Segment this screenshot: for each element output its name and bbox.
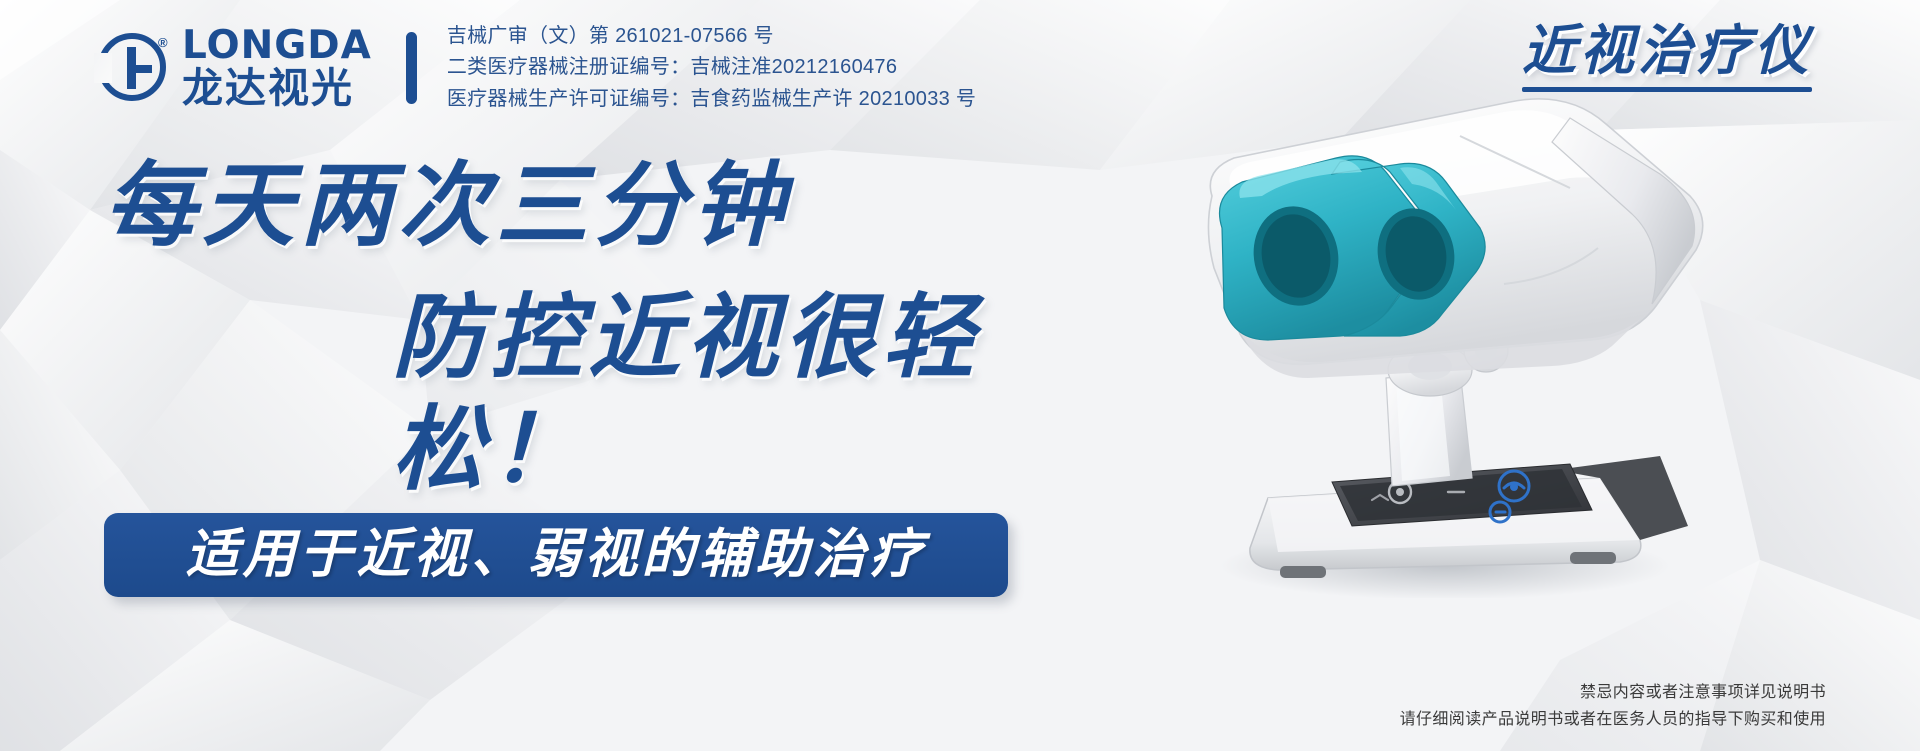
headline-line-1: 每天两次三分钟 (0, 150, 1030, 262)
device-image (1100, 78, 1860, 598)
brand-latin-name: LONGDA (182, 26, 372, 65)
regulatory-block: 吉械广审（文）第 261021-07566 号 二类医疗器械注册证编号：吉械注准… (447, 22, 976, 113)
brand-wordmark: LONGDA 龙达视光 (182, 26, 372, 110)
product-badge-underline (1522, 87, 1812, 92)
header-divider (406, 32, 417, 104)
logo-crossbar (127, 65, 152, 73)
disclaimer-line-2: 请仔细阅读产品说明书或者在医务人员的指导下购买和使用 (1400, 706, 1826, 733)
indication-pill: 适用于近视、弱视的辅助治疗 (104, 513, 1008, 597)
headline-block: 每天两次三分钟 防控近视很轻松！ (0, 150, 1030, 507)
banner-header: ® LONGDA 龙达视光 吉械广审（文）第 261021-07566 号 二类… (96, 22, 976, 113)
brand-chinese-name: 龙达视光 (182, 67, 372, 110)
regulatory-line: 二类医疗器械注册证编号：吉械注准20212160476 (447, 53, 976, 81)
product-badge-label: 近视治疗仪 (1522, 22, 1812, 81)
eye-circle-icon: ® (96, 31, 170, 105)
disclaimer-line-1: 禁忌内容或者注意事项详见说明书 (1400, 679, 1826, 706)
indication-pill-label: 适用于近视、弱视的辅助治疗 (186, 529, 927, 582)
regulatory-line: 医疗器械生产许可证编号：吉食药监械生产许 20210033 号 (447, 85, 976, 113)
headline-line-2: 防控近视很轻松！ (0, 282, 1030, 506)
registered-mark: ® (158, 35, 168, 50)
logo-ring-gap (94, 53, 112, 83)
disclaimer-block: 禁忌内容或者注意事项详见说明书 请仔细阅读产品说明书或者在医务人员的指导下购买和… (1400, 679, 1826, 733)
regulatory-line: 吉械广审（文）第 261021-07566 号 (447, 22, 976, 50)
promo-banner: ® LONGDA 龙达视光 吉械广审（文）第 261021-07566 号 二类… (0, 0, 1920, 751)
product-badge: 近视治疗仪 (1522, 22, 1812, 92)
